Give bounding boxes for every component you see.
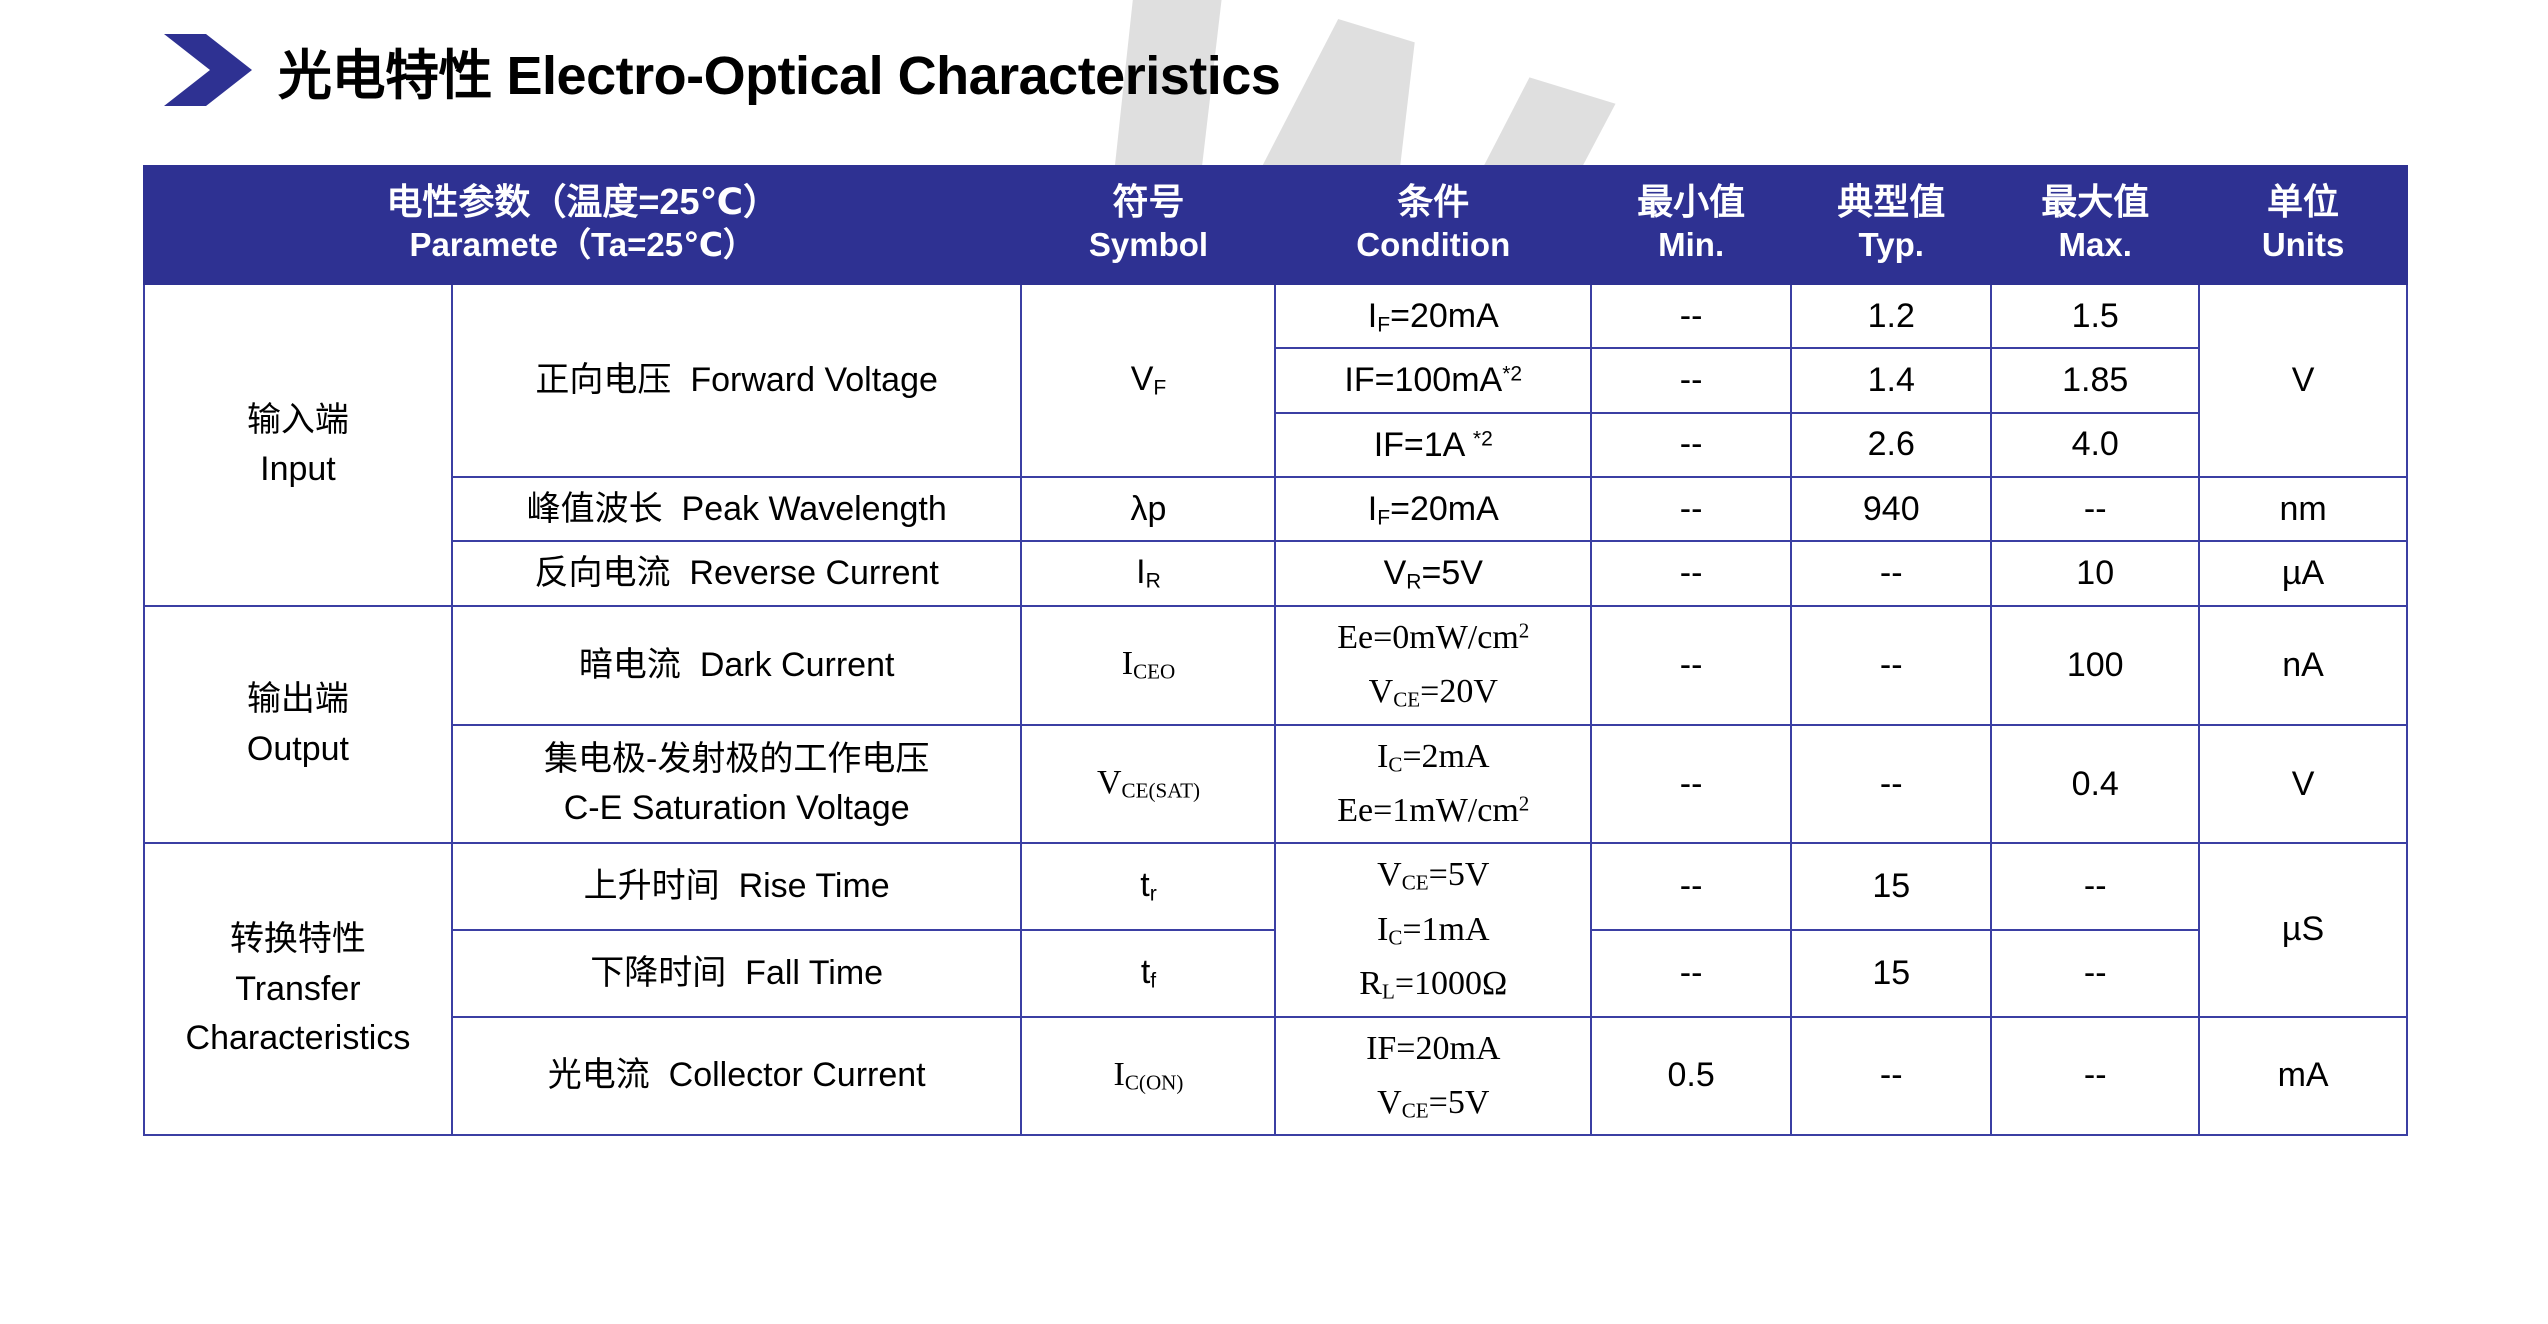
unit-milliamp: mA bbox=[2199, 1017, 2407, 1136]
symbol-tf: tf bbox=[1021, 930, 1275, 1017]
group-label-input: 输入端 Input bbox=[144, 284, 452, 606]
value-max: 0.4 bbox=[1991, 725, 2199, 844]
header-symbol-cn: 符号 bbox=[1028, 179, 1268, 224]
table-row: 输出端 Output 暗电流 Dark Current ICEO Ee=0mW/… bbox=[144, 606, 2407, 725]
param-dark-current: 暗电流 Dark Current bbox=[452, 606, 1022, 725]
value-min: -- bbox=[1591, 930, 1791, 1017]
group-label-cn: 输出端 bbox=[247, 680, 349, 718]
condition-dark-current: Ee=0mW/cm2 VCE=20V bbox=[1275, 606, 1591, 725]
value-max: -- bbox=[1991, 843, 2199, 930]
header-symbol: 符号 Symbol bbox=[1021, 166, 1275, 284]
value-max: -- bbox=[1991, 930, 2199, 1017]
group-input: 输入端 Input 正向电压 Forward Voltage VF IF=20m… bbox=[144, 284, 2407, 606]
header-min-en: Min. bbox=[1598, 224, 1784, 267]
condition-ce-saturation: IC=2mA Ee=1mW/cm2 bbox=[1275, 725, 1591, 844]
header-min: 最小值 Min. bbox=[1591, 166, 1791, 284]
value-min: -- bbox=[1591, 725, 1791, 844]
param-ce-saturation-voltage: 集电极-发射极的工作电压 C-E Saturation Voltage bbox=[452, 725, 1022, 844]
value-max: 10 bbox=[1991, 541, 2199, 605]
page-title-en: Electro-Optical Characteristics bbox=[507, 46, 1281, 106]
value-min: -- bbox=[1591, 477, 1791, 541]
group-label-output: 输出端 Output bbox=[144, 606, 452, 844]
param-name-cn: 反向电流 bbox=[535, 554, 671, 592]
group-label-en: Input bbox=[260, 450, 336, 488]
group-transfer-characteristics: 转换特性 Transfer Characteristics 上升时间 Rise … bbox=[144, 843, 2407, 1135]
unit-nm: nm bbox=[2199, 477, 2407, 541]
value-typ: 15 bbox=[1791, 843, 1991, 930]
group-label-cn: 转换特性 bbox=[230, 920, 366, 958]
value-min: -- bbox=[1591, 348, 1791, 412]
page-title: 光电特性 Electro-Optical Characteristics bbox=[278, 31, 1280, 110]
param-name-en: Forward Voltage bbox=[690, 361, 938, 399]
value-typ: 940 bbox=[1791, 477, 1991, 541]
value-min: -- bbox=[1591, 843, 1791, 930]
param-name-en: Peak Wavelength bbox=[682, 490, 947, 528]
page-title-cn: 光电特性 bbox=[278, 46, 492, 106]
value-max: 1.85 bbox=[1991, 348, 2199, 412]
param-name-en: C-E Saturation Voltage bbox=[459, 784, 1015, 833]
header-condition-en: Condition bbox=[1282, 224, 1584, 267]
table-header-row: 电性参数（温度=25℃） Paramete（Ta=25℃） 符号 Symbol … bbox=[144, 166, 2407, 284]
value-max: -- bbox=[1991, 1017, 2199, 1136]
header-max: 最大值 Max. bbox=[1991, 166, 2199, 284]
param-name-cn: 暗电流 bbox=[579, 646, 681, 684]
value-max: 1.5 bbox=[1991, 284, 2199, 348]
header-parameter-cn: 电性参数（温度=25℃） bbox=[151, 179, 1014, 224]
symbol-vce-sat: VCE(SAT) bbox=[1021, 725, 1275, 844]
condition-vr-5v: VR=5V bbox=[1275, 541, 1591, 605]
group-label-cn: 输入端 bbox=[247, 401, 349, 439]
value-typ: -- bbox=[1791, 1017, 1991, 1136]
header-units: 单位 Units bbox=[2199, 166, 2407, 284]
table-row: 峰值波长 Peak Wavelength λp IF=20mA -- 940 -… bbox=[144, 477, 2407, 541]
param-name-cn: 下降时间 bbox=[590, 954, 726, 992]
unit-volt: V bbox=[2199, 284, 2407, 477]
symbol-ir: IR bbox=[1021, 541, 1275, 605]
table-row: 集电极-发射极的工作电压 C-E Saturation Voltage VCE(… bbox=[144, 725, 2407, 844]
table-row: 输入端 Input 正向电压 Forward Voltage VF IF=20m… bbox=[144, 284, 2407, 348]
param-name-cn: 光电流 bbox=[548, 1056, 650, 1094]
param-rise-time: 上升时间 Rise Time bbox=[452, 843, 1022, 930]
header-min-cn: 最小值 bbox=[1598, 179, 1784, 224]
symbol-tr: tr bbox=[1021, 843, 1275, 930]
condition-if-100ma: IF=100mA*2 bbox=[1275, 348, 1591, 412]
group-output: 输出端 Output 暗电流 Dark Current ICEO Ee=0mW/… bbox=[144, 606, 2407, 844]
table-row: 光电流 Collector Current IC(ON) IF=20mA VCE… bbox=[144, 1017, 2407, 1136]
value-typ: 2.6 bbox=[1791, 413, 1991, 477]
electro-optical-characteristics-table: 电性参数（温度=25℃） Paramete（Ta=25℃） 符号 Symbol … bbox=[143, 165, 2408, 1136]
unit-volt: V bbox=[2199, 725, 2407, 844]
param-fall-time: 下降时间 Fall Time bbox=[452, 930, 1022, 1017]
param-name-cn: 正向电压 bbox=[535, 361, 671, 399]
value-typ: -- bbox=[1791, 606, 1991, 725]
condition-if-1a: IF=1A *2 bbox=[1275, 413, 1591, 477]
unit-microamp: µA bbox=[2199, 541, 2407, 605]
param-name-cn: 集电极-发射极的工作电压 bbox=[459, 735, 1015, 784]
symbol-ic-on: IC(ON) bbox=[1021, 1017, 1275, 1136]
symbol-lambda-p: λp bbox=[1021, 477, 1275, 541]
value-typ: 1.4 bbox=[1791, 348, 1991, 412]
param-name-en: Fall Time bbox=[745, 954, 883, 992]
group-label-en: Transfer Characteristics bbox=[186, 970, 411, 1057]
value-min: -- bbox=[1591, 284, 1791, 348]
header-condition: 条件 Condition bbox=[1275, 166, 1591, 284]
table-row: 转换特性 Transfer Characteristics 上升时间 Rise … bbox=[144, 843, 2407, 930]
header-typ-en: Typ. bbox=[1798, 224, 1984, 267]
header-units-cn: 单位 bbox=[2206, 179, 2400, 224]
section-title: 光电特性 Electro-Optical Characteristics bbox=[160, 30, 1280, 110]
header-max-en: Max. bbox=[1998, 224, 2192, 267]
header-symbol-en: Symbol bbox=[1028, 224, 1268, 267]
param-name-cn: 上升时间 bbox=[584, 867, 720, 905]
unit-microsecond: µS bbox=[2199, 843, 2407, 1016]
param-name-en: Rise Time bbox=[739, 867, 890, 905]
symbol-iceo: ICEO bbox=[1021, 606, 1275, 725]
header-parameter-en: Paramete（Ta=25℃） bbox=[151, 224, 1014, 267]
param-collector-current: 光电流 Collector Current bbox=[452, 1017, 1022, 1136]
value-min: -- bbox=[1591, 413, 1791, 477]
group-label-transfer: 转换特性 Transfer Characteristics bbox=[144, 843, 452, 1135]
value-min: 0.5 bbox=[1591, 1017, 1791, 1136]
condition-if-20ma: IF=20mA bbox=[1275, 477, 1591, 541]
value-max: -- bbox=[1991, 477, 2199, 541]
condition-collector-current: IF=20mA VCE=5V bbox=[1275, 1017, 1591, 1136]
header-condition-cn: 条件 bbox=[1282, 179, 1584, 224]
param-forward-voltage: 正向电压 Forward Voltage bbox=[452, 284, 1022, 477]
value-typ: 1.2 bbox=[1791, 284, 1991, 348]
value-max: 4.0 bbox=[1991, 413, 2199, 477]
param-name-cn: 峰值波长 bbox=[527, 490, 663, 528]
symbol-vf: VF bbox=[1021, 284, 1275, 477]
header-units-en: Units bbox=[2206, 224, 2400, 267]
param-name-en: Collector Current bbox=[669, 1056, 926, 1094]
header-typ-cn: 典型值 bbox=[1798, 179, 1984, 224]
param-name-en: Dark Current bbox=[700, 646, 895, 684]
param-peak-wavelength: 峰值波长 Peak Wavelength bbox=[452, 477, 1022, 541]
param-name-en: Reverse Current bbox=[689, 554, 938, 592]
condition-if-20ma: IF=20mA bbox=[1275, 284, 1591, 348]
value-typ: -- bbox=[1791, 541, 1991, 605]
header-typ: 典型值 Typ. bbox=[1791, 166, 1991, 284]
header-parameter: 电性参数（温度=25℃） Paramete（Ta=25℃） bbox=[144, 166, 1021, 284]
condition-switching: VCE=5V IC=1mA RL=1000Ω bbox=[1275, 843, 1591, 1016]
value-min: -- bbox=[1591, 541, 1791, 605]
value-typ: 15 bbox=[1791, 930, 1991, 1017]
param-reverse-current: 反向电流 Reverse Current bbox=[452, 541, 1022, 605]
group-label-en: Output bbox=[247, 730, 349, 768]
chevron-right-icon bbox=[160, 30, 256, 110]
value-min: -- bbox=[1591, 606, 1791, 725]
value-typ: -- bbox=[1791, 725, 1991, 844]
value-max: 100 bbox=[1991, 606, 2199, 725]
unit-nanoamp: nA bbox=[2199, 606, 2407, 725]
header-max-cn: 最大值 bbox=[1998, 179, 2192, 224]
table-row: 反向电流 Reverse Current IR VR=5V -- -- 10 µ… bbox=[144, 541, 2407, 605]
